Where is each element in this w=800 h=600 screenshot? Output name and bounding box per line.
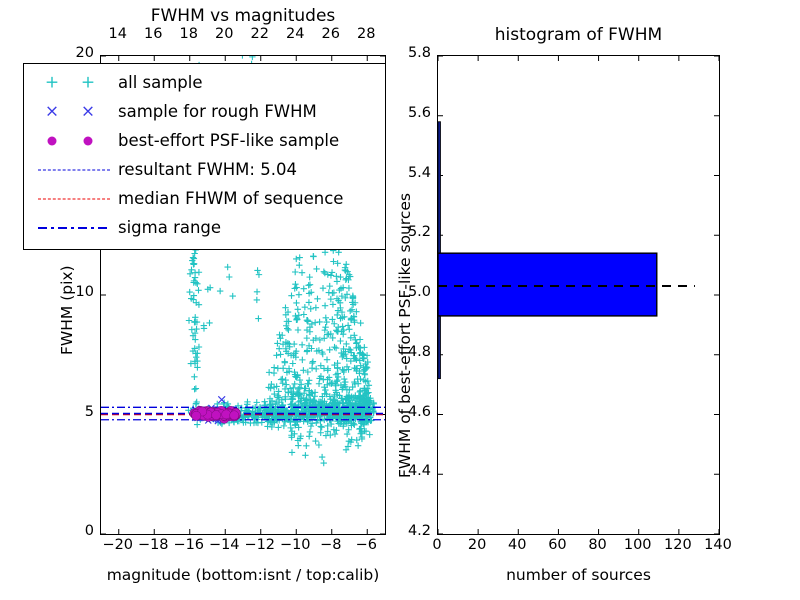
legend-line-icon (38, 198, 110, 199)
left-y-tick: 0 (34, 523, 94, 539)
left-y-tick: 20 (34, 45, 94, 61)
legend-key-line (30, 157, 118, 183)
legend-marker-icon: × (45, 103, 59, 120)
legend-item[interactable]: resultant FWHM: 5.04 (24, 155, 385, 184)
legend-item[interactable]: ××sample for rough FWHM (24, 97, 385, 126)
right-xlabel: number of sources (437, 566, 720, 584)
histogram-plot-area[interactable] (437, 55, 720, 535)
legend-item[interactable]: median FHWM of sequence (24, 184, 385, 213)
left-ylabel: FWHM (pix) (58, 265, 76, 355)
legend-item-label: sample for rough FWHM (118, 102, 317, 121)
legend-key-marker: ×× (30, 99, 118, 125)
right-ylabel: FWHM of best-effort PSF-like sources (396, 193, 414, 478)
legend-marker-icon: × (81, 103, 95, 120)
left-y-tick: 5 (34, 404, 94, 420)
legend-key-marker: ++ (30, 70, 118, 96)
right-y-tick: 5.8 (371, 45, 431, 61)
left-panel-title: FWHM vs magnitudes (100, 6, 386, 26)
legend-line-icon (38, 227, 110, 229)
legend-marker-icon: + (81, 74, 95, 91)
legend-item[interactable]: best-effort PSF-like sample (24, 126, 385, 155)
right-y-tick: 4.2 (371, 523, 431, 539)
right-panel-title: histogram of FWHM (437, 25, 720, 45)
left-top-tick: 28 (336, 26, 396, 42)
legend-marker-icon: + (45, 74, 59, 91)
legend-item-label: sigma range (118, 218, 221, 237)
legend-line-icon (38, 169, 110, 170)
legend-item-label: median FHWM of sequence (118, 189, 343, 208)
legend-dot-icon (84, 136, 93, 145)
legend-item-label: resultant FWHM: 5.04 (118, 160, 297, 179)
left-xlabel: magnitude (bottom:isnt / top:calib) (90, 566, 396, 584)
histogram-canvas (438, 56, 719, 534)
legend-key-dot (30, 128, 118, 154)
figure-canvas: FWHM vs magnitudes 1416182022242628 −20−… (0, 0, 800, 600)
legend-dot-icon (48, 136, 57, 145)
legend-key-line (30, 186, 118, 212)
right-x-tick: 140 (688, 537, 748, 553)
legend-item[interactable]: sigma range (24, 213, 385, 242)
legend-item[interactable]: ++all sample (24, 68, 385, 97)
legend-key-line (30, 215, 118, 241)
legend-item-label: best-effort PSF-like sample (118, 131, 339, 150)
left-bottom-tick: −6 (336, 537, 396, 553)
legend-box: ++all sample××sample for rough FWHMbest-… (23, 63, 386, 250)
legend-item-label: all sample (118, 73, 203, 92)
